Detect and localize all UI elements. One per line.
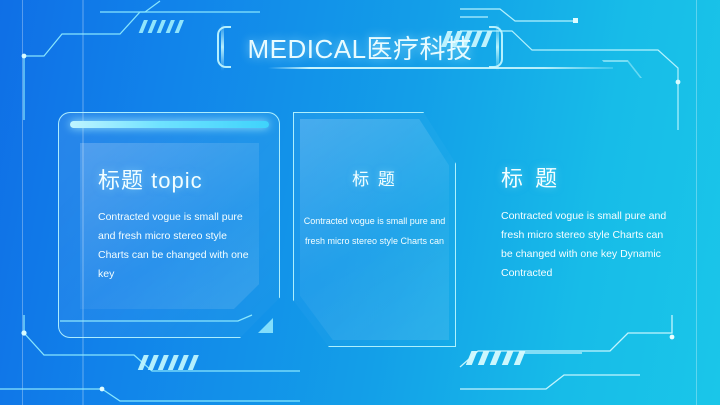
card-left-glow-bar	[70, 121, 269, 128]
page-title: MEDICAL医疗科技	[247, 29, 472, 66]
title-underline-decoration	[268, 67, 613, 69]
card-right-body: Contracted vogue is small pure and fresh…	[501, 207, 673, 283]
card-left-body: Contracted vogue is small pure and fresh…	[98, 208, 250, 284]
card-middle-body: Contracted vogue is small pure and fresh…	[293, 212, 456, 251]
circuit-decoration-bottom-right	[460, 315, 720, 405]
card-right-heading: 标 题	[501, 161, 560, 193]
left-bracket-icon	[217, 26, 231, 68]
card-left-triangle-accent	[258, 318, 273, 333]
card-middle-heading: 标 题	[293, 165, 456, 190]
right-bracket-icon	[489, 26, 503, 68]
card-left-heading: 标题 topic	[98, 163, 203, 195]
